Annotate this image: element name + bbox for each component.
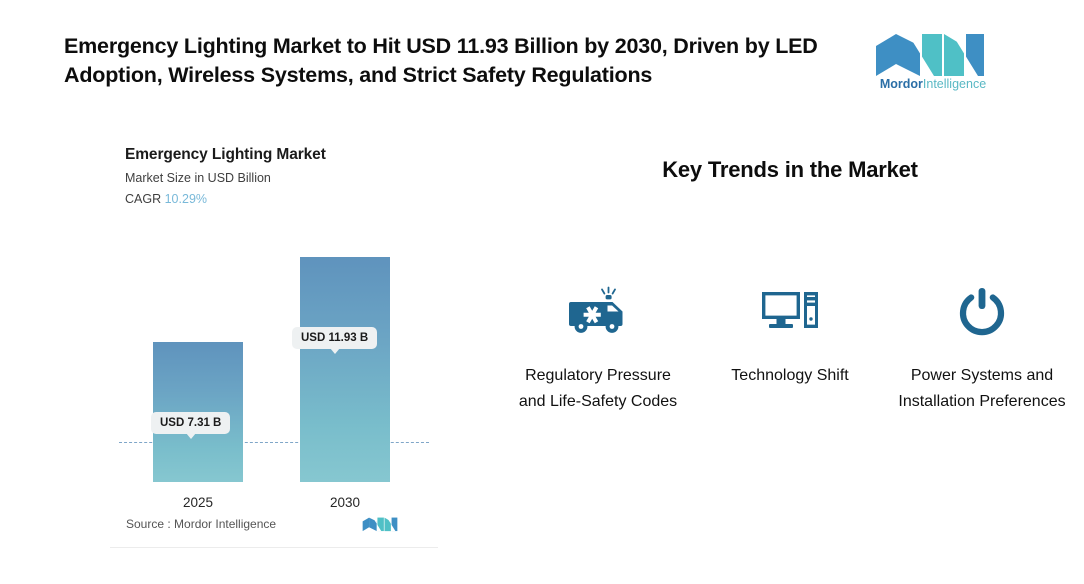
trend-item-technology: Technology Shift xyxy=(702,280,878,389)
brand-word-mordor: Mordor xyxy=(880,77,923,91)
brand-word-intelligence: Intelligence xyxy=(923,77,986,91)
desktop-computer-icon xyxy=(760,280,820,342)
cagr-label: CAGR xyxy=(125,192,161,206)
card-divider xyxy=(110,547,438,548)
x-axis-label-2030: 2030 xyxy=(300,495,390,510)
brand-wordmark: MordorIntelligence xyxy=(874,78,992,91)
market-size-chart-card: Emergency Lighting Market Market Size in… xyxy=(104,122,444,562)
chart-subtitle: Market Size in USD Billion xyxy=(125,171,271,185)
page-title: Emergency Lighting Market to Hit USD 11.… xyxy=(64,32,864,89)
bar-2030 xyxy=(300,257,390,482)
key-trends-title: Key Trends in the Market xyxy=(510,157,1070,183)
x-axis-label-2025: 2025 xyxy=(153,495,243,510)
ambulance-icon xyxy=(568,280,628,342)
page-header: Emergency Lighting Market to Hit USD 11.… xyxy=(0,0,1084,120)
trend-item-power: Power Systems and Installation Preferenc… xyxy=(894,280,1070,415)
trend-label-technology: Technology Shift xyxy=(731,363,848,389)
value-callout-2025: USD 7.31 B xyxy=(151,412,230,434)
trend-label-power: Power Systems and Installation Preferenc… xyxy=(894,363,1070,415)
bar-chart-plot-area: USD 7.31 B USD 11.93 B 2025 2030 xyxy=(104,222,444,512)
trend-item-regulatory: Regulatory Pressure and Life-Safety Code… xyxy=(510,280,686,415)
mordor-logo-mark xyxy=(874,32,986,76)
chart-title: Emergency Lighting Market xyxy=(125,146,326,164)
key-trends-section: Key Trends in the Market xyxy=(510,140,1070,520)
chart-source-row: Source : Mordor Intelligence xyxy=(104,512,444,538)
source-mordor-logo-mark xyxy=(362,514,398,534)
source-label: Source : Mordor Intelligence xyxy=(126,517,276,531)
brand-logo: MordorIntelligence xyxy=(874,32,992,96)
value-callout-2030: USD 11.93 B xyxy=(292,327,377,349)
key-trends-list: Regulatory Pressure and Life-Safety Code… xyxy=(510,280,1070,415)
power-button-icon xyxy=(952,280,1012,342)
chart-cagr: CAGR 10.29% xyxy=(125,192,207,206)
trend-label-regulatory: Regulatory Pressure and Life-Safety Code… xyxy=(510,363,686,415)
cagr-value: 10.29% xyxy=(165,192,207,206)
